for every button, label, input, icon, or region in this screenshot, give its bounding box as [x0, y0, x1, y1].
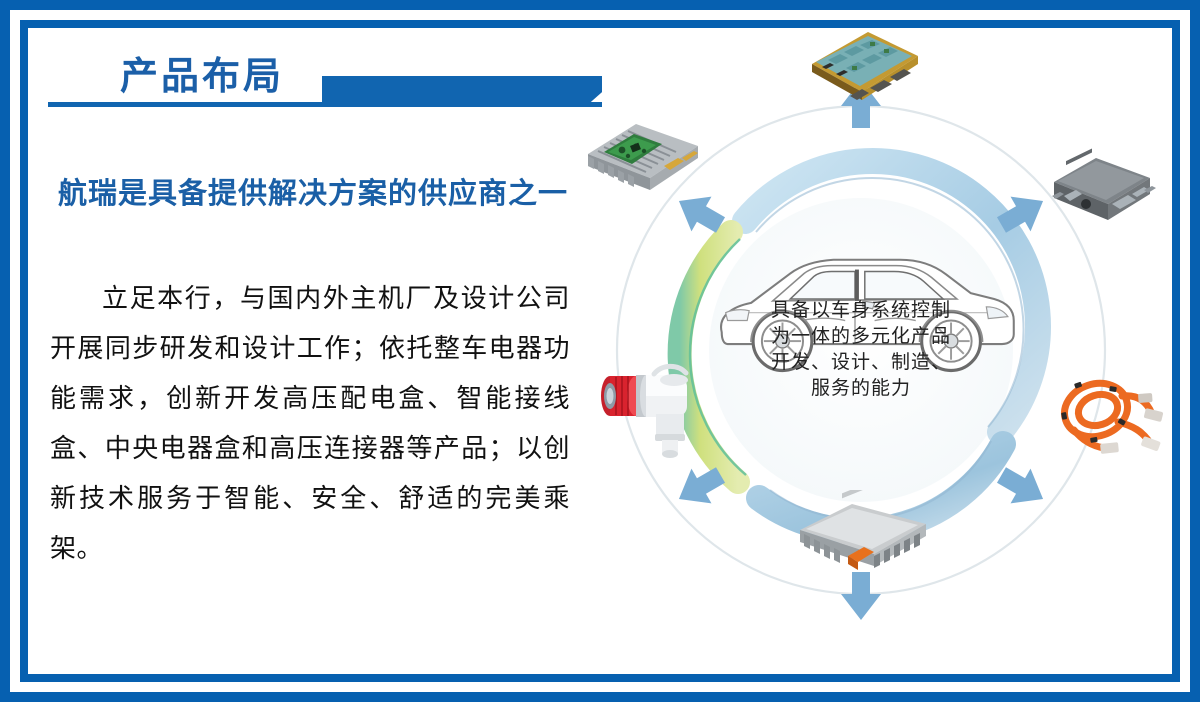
body-control-module-icon [580, 112, 710, 208]
smart-junction-box-icon [806, 28, 926, 108]
hv-cable-harness-icon [1048, 360, 1172, 456]
center-caption-line-4: 服务的能力 [730, 376, 992, 402]
product-layout-diagram: 具备以车身系统控制 为一体的多元化产品 开发、设计、制造、 服务的能力 [548, 28, 1172, 674]
center-caption-line-2: 为一体的多元化产品 [730, 324, 992, 350]
body-paragraph: 立足本行，与国内外主机厂及设计公司开展同步研发和设计工作；依托整车电器功能需求，… [50, 274, 570, 574]
title-block: 产品布局 [28, 28, 628, 118]
product-high-voltage-connector[interactable] [586, 348, 692, 426]
central-electrical-box-icon [1044, 142, 1164, 232]
slide: 产品布局 航瑞是具备提供解决方案的供应商之一 立足本行，与国内外主机厂及设计公司… [0, 0, 1200, 702]
hv-connector-icon [586, 348, 706, 458]
center-caption: 具备以车身系统控制 为一体的多元化产品 开发、设计、制造、 服务的能力 [730, 298, 992, 402]
product-central-electrical-box[interactable] [1044, 142, 1150, 220]
subtitle: 航瑞是具备提供解决方案的供应商之一 [58, 170, 598, 212]
center-caption-line-3: 开发、设计、制造、 [730, 350, 992, 376]
title-underline-rule [48, 102, 602, 107]
arrow-down-icon [841, 572, 881, 620]
product-high-voltage-distribution-box[interactable] [788, 490, 894, 568]
product-body-control-module[interactable] [580, 112, 686, 190]
product-smart-junction-box[interactable] [806, 28, 912, 100]
product-high-voltage-cable-harness[interactable] [1048, 360, 1154, 438]
center-caption-line-1: 具备以车身系统控制 [730, 298, 992, 324]
page-title: 产品布局 [120, 54, 284, 98]
hv-distribution-box-icon [788, 490, 938, 576]
slide-content: 产品布局 航瑞是具备提供解决方案的供应商之一 立足本行，与国内外主机厂及设计公司… [28, 28, 1172, 674]
